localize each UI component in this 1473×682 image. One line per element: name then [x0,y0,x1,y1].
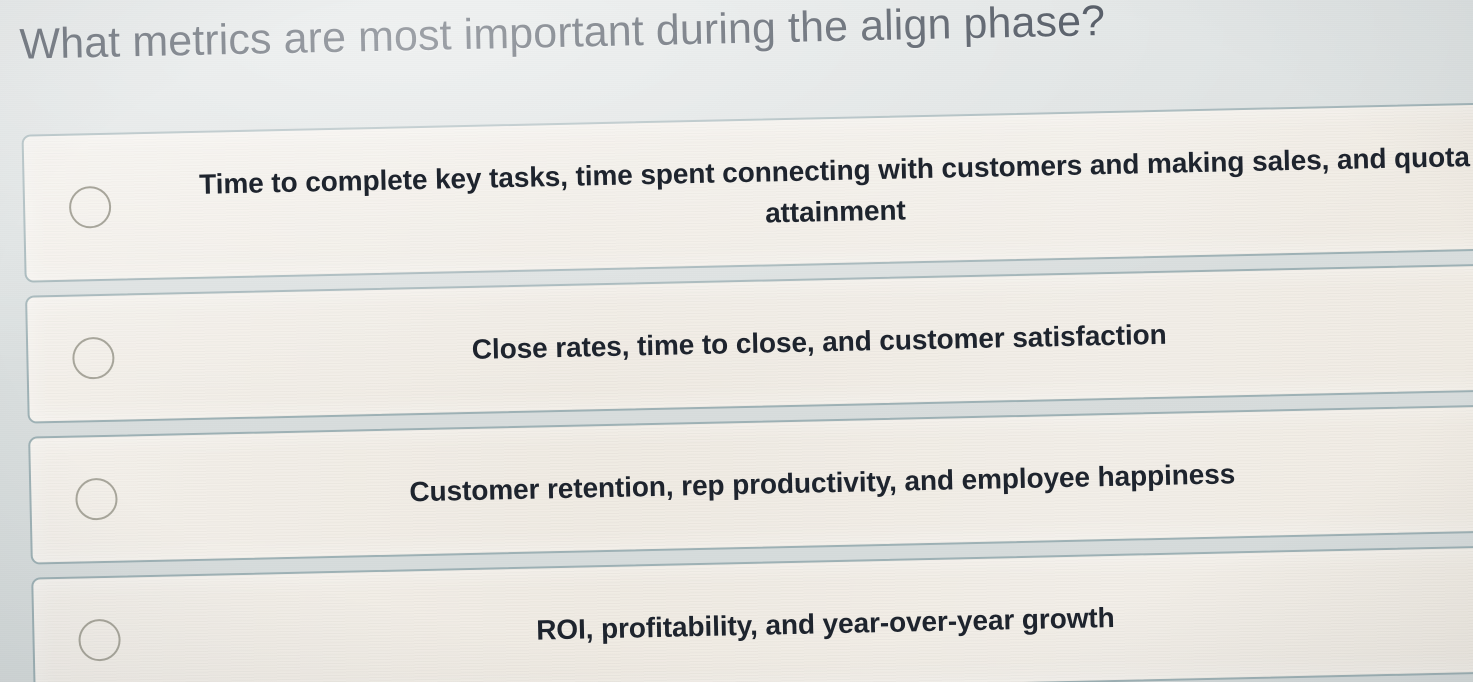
radio-button-icon-d[interactable] [78,619,121,662]
answer-option-label-b: Close rates, time to close, and customer… [114,306,1473,379]
question-area: What metrics are most important during t… [19,0,1420,70]
answer-option-label-d: ROI, profitability, and year-over-year g… [120,588,1473,661]
answer-option-a[interactable]: Time to complete key tasks, time spent c… [22,101,1473,282]
answer-option-label-c: Customer retention, rep productivity, an… [117,447,1473,520]
answer-option-label-a: Time to complete key tasks, time spent c… [110,134,1473,248]
page-title: What metrics are most important during t… [19,0,1420,70]
radio-button-icon-a[interactable] [69,186,112,229]
answer-option-c[interactable]: Customer retention, rep productivity, an… [28,403,1473,564]
answer-options-list: Time to complete key tasks, time spent c… [22,101,1473,682]
radio-button-icon-b[interactable] [72,337,115,380]
answer-option-d[interactable]: ROI, profitability, and year-over-year g… [31,544,1473,682]
quiz-screen: What metrics are most important during t… [0,0,1473,682]
answer-option-b[interactable]: Close rates, time to close, and customer… [25,262,1473,423]
radio-button-icon-c[interactable] [75,478,118,521]
screenshot-photo: What metrics are most important during t… [0,0,1473,682]
